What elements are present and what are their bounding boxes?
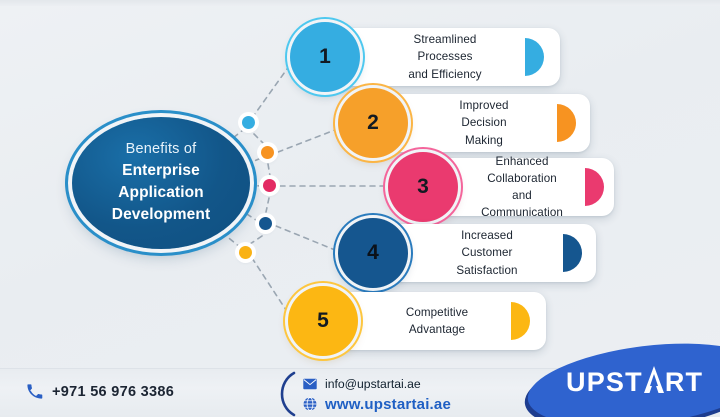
- footer-contact-block: info@upstartai.ae www.upstartai.ae: [303, 375, 451, 413]
- link-dot1-dot2: [254, 134, 266, 146]
- chain-dot-4: [259, 217, 272, 230]
- step-label-5: Competitive Advantage: [406, 304, 468, 338]
- step-accent-2: [557, 104, 576, 142]
- step-label-1: Streamlined Processes and Efficiency: [388, 31, 502, 82]
- step-number-5: 5: [317, 309, 329, 333]
- step-number-1: 1: [319, 45, 331, 69]
- step-row-3[interactable]: Enhanced Collaboration and Communication…: [388, 152, 614, 222]
- step-accent-1: [525, 38, 544, 76]
- footer-arc-decoration: [268, 371, 302, 417]
- step-label-2-line2: Making: [465, 134, 503, 147]
- logo-wordmark: UPST RT: [566, 367, 703, 398]
- logo-a-arrow-icon: [643, 365, 665, 395]
- footer-email-text: info@upstartai.ae: [325, 377, 421, 391]
- chain-dot-2: [261, 146, 274, 159]
- step-row-1[interactable]: Streamlined Processes and Efficiency 1: [290, 22, 560, 92]
- top-strip-decoration: [0, 0, 720, 6]
- step-label-4-line1: Increased Customer: [461, 229, 513, 259]
- link-dot2-step2: [278, 128, 340, 152]
- step-number-4: 4: [367, 241, 379, 265]
- step-label-3: Enhanced Collaboration and Communication: [481, 153, 563, 222]
- footer-email-row[interactable]: info@upstartai.ae: [303, 375, 451, 393]
- hub-title-line2: Enterprise: [122, 160, 200, 182]
- footer-phone-block[interactable]: +971 56 976 3386: [26, 383, 174, 400]
- envelope-icon: [303, 377, 317, 391]
- step-row-4[interactable]: Increased Customer Satisfaction 4: [338, 218, 596, 288]
- hub-title-line4: Development: [112, 204, 210, 226]
- link-dot3-dot4: [266, 198, 269, 212]
- company-logo[interactable]: UPST RT: [504, 341, 720, 417]
- footer-website-row[interactable]: www.upstartai.ae: [303, 395, 451, 413]
- chain-dot-5: [239, 246, 252, 259]
- hub-title-line1: Benefits of: [126, 141, 197, 157]
- step-number-2: 2: [367, 111, 379, 135]
- step-label-3-line2: and Communication: [481, 189, 563, 219]
- step-bubble-4[interactable]: 4: [338, 218, 408, 288]
- step-label-2-line1: Improved Decision: [459, 99, 508, 129]
- link-dot1-step1: [252, 62, 292, 118]
- link-dot5-step5: [252, 258, 290, 316]
- logo-text-part3: RT: [665, 367, 703, 398]
- step-accent-5: [511, 302, 530, 340]
- phone-icon: [26, 383, 43, 400]
- link-dot4-dot5: [250, 236, 262, 244]
- globe-icon: [303, 397, 317, 411]
- step-label-4: Increased Customer Satisfaction: [436, 227, 538, 278]
- step-accent-4: [563, 234, 582, 272]
- step-label-1-line1: Streamlined Processes: [414, 33, 477, 63]
- step-bubble-5[interactable]: 5: [288, 286, 358, 356]
- step-label-2: Improved Decision Making: [436, 97, 532, 148]
- step-accent-3: [585, 168, 604, 206]
- center-hub: Benefits of Enterprise Application Devel…: [72, 117, 250, 249]
- step-label-3-line1: Enhanced Collaboration: [487, 155, 557, 185]
- link-dot2-dot3: [268, 164, 270, 176]
- step-label-4-line2: Satisfaction: [456, 264, 517, 277]
- step-bubble-3[interactable]: 3: [388, 152, 458, 222]
- footer-phone-text: +971 56 976 3386: [52, 384, 174, 400]
- chain-dot-1: [242, 116, 255, 129]
- step-number-3: 3: [417, 175, 429, 199]
- step-row-2[interactable]: Improved Decision Making 2: [338, 88, 590, 158]
- step-label-5-line2: Advantage: [409, 323, 465, 336]
- step-label-1-line2: and Efficiency: [408, 68, 481, 81]
- logo-text-part1: UPST: [566, 367, 643, 398]
- footer-website-text: www.upstartai.ae: [325, 396, 451, 413]
- link-dot4-step4: [276, 226, 340, 252]
- step-card-2[interactable]: Improved Decision Making: [380, 94, 590, 152]
- infographic-canvas: Benefits of Enterprise Application Devel…: [0, 0, 720, 417]
- chain-dot-3: [263, 179, 276, 192]
- step-card-4[interactable]: Increased Customer Satisfaction: [380, 224, 596, 282]
- step-bubble-1[interactable]: 1: [290, 22, 360, 92]
- hub-title-line3: Application: [118, 182, 204, 204]
- step-label-5-line1: Competitive: [406, 306, 468, 319]
- step-bubble-2[interactable]: 2: [338, 88, 408, 158]
- step-card-1[interactable]: Streamlined Processes and Efficiency: [332, 28, 560, 86]
